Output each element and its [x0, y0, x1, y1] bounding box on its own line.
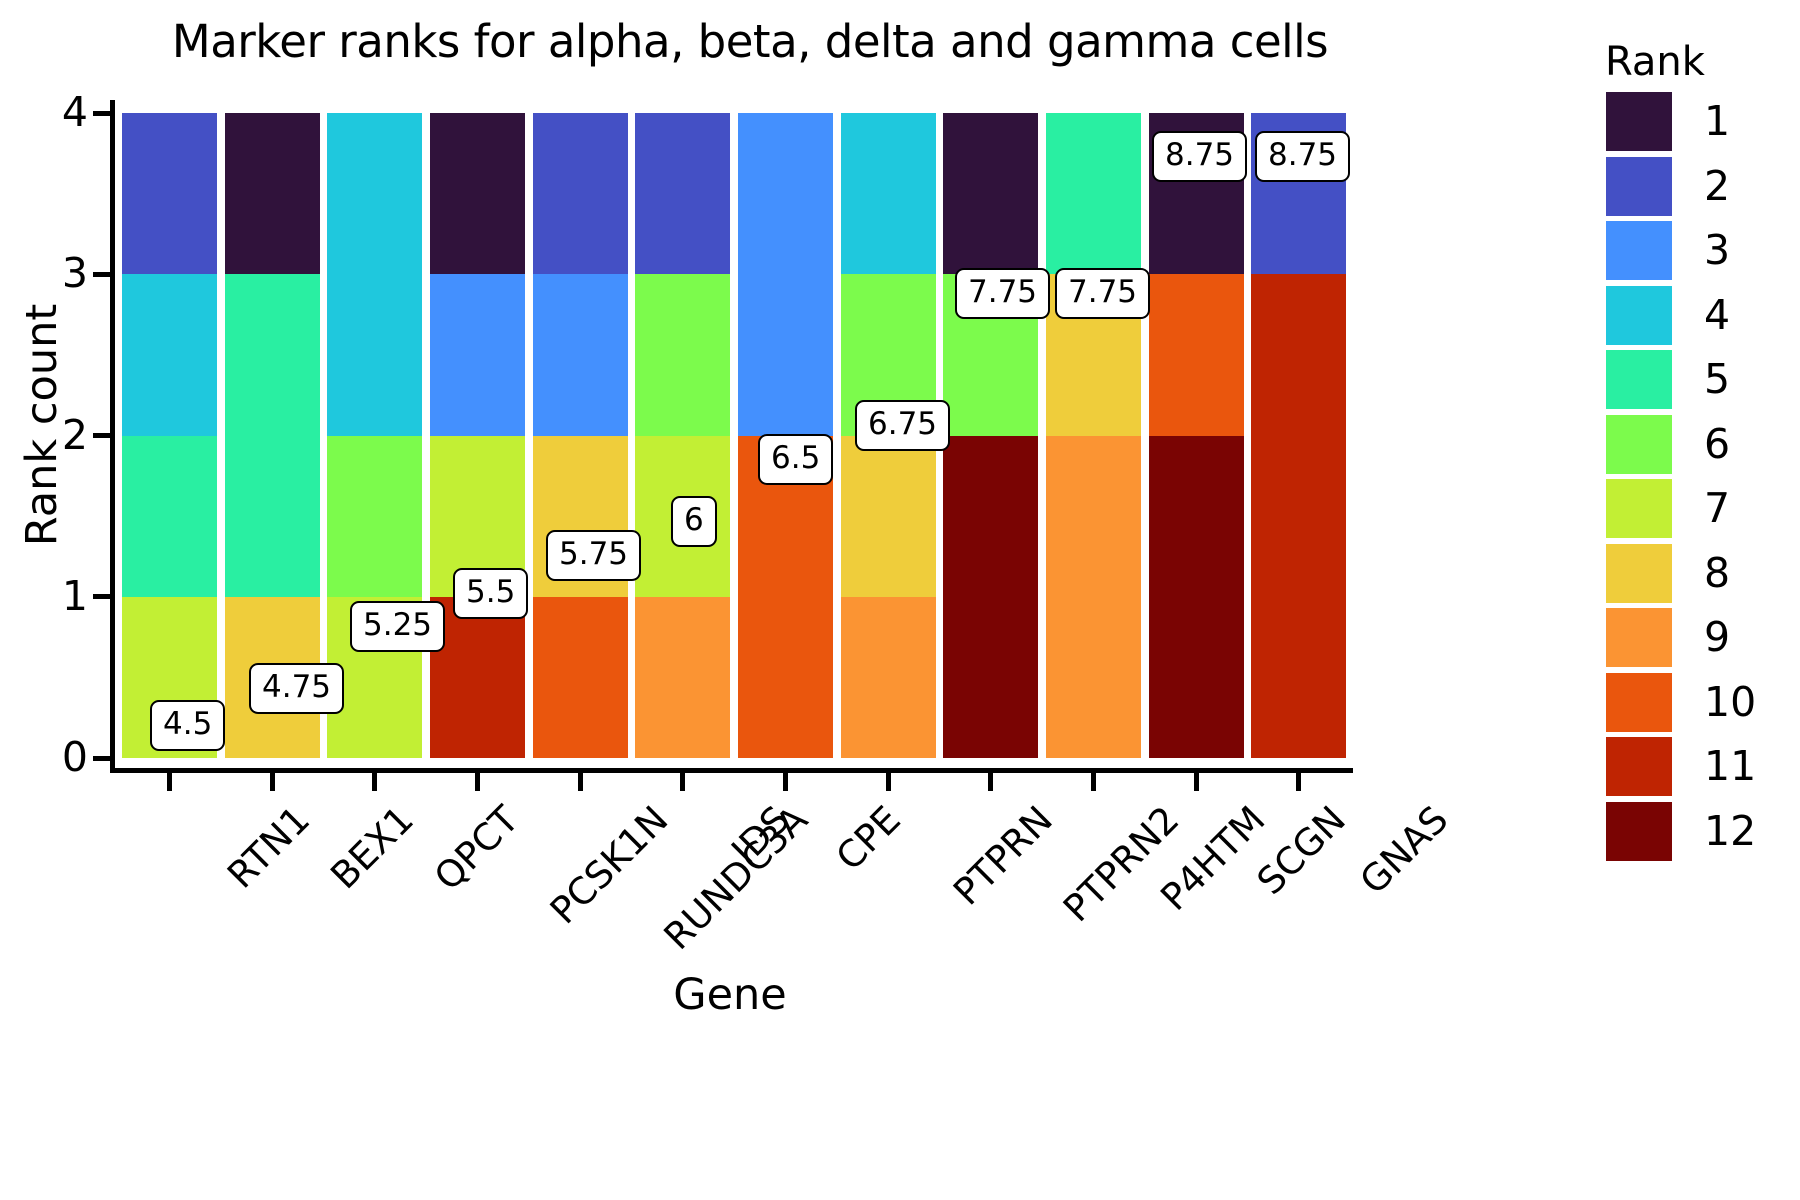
- bar-segment[interactable]: [943, 436, 1038, 759]
- x-tick-label: PTPRN2: [1057, 800, 1185, 928]
- bar-stack[interactable]: [635, 113, 730, 758]
- x-axis-title: Gene: [480, 970, 980, 1020]
- bar-segment[interactable]: [1149, 436, 1244, 759]
- bar-stack[interactable]: [122, 113, 217, 758]
- x-tick-label: QPCT: [428, 800, 525, 897]
- x-tick-mark: [270, 772, 275, 791]
- x-tick-label: PCSK1N: [544, 800, 674, 930]
- bar-segment[interactable]: [533, 597, 628, 758]
- legend-item-label: 1: [1704, 101, 1730, 142]
- bar-stack[interactable]: [943, 113, 1038, 758]
- y-tick-label: 4: [18, 92, 88, 133]
- bar-segment[interactable]: [635, 113, 730, 274]
- bar-value-label: 7.75: [955, 268, 1050, 319]
- bar-value-label: 6: [671, 496, 717, 547]
- bar-stack[interactable]: [533, 113, 628, 758]
- legend-item[interactable]: 11: [1600, 737, 1800, 800]
- x-tick-label: PTPRN: [947, 800, 1058, 911]
- x-tick-label: RTN1: [222, 800, 317, 895]
- bar-segment[interactable]: [1251, 274, 1346, 758]
- legend-color-swatch: [1606, 673, 1672, 732]
- bar-segment[interactable]: [327, 436, 422, 597]
- x-tick-label: BEX1: [325, 800, 420, 895]
- bar-segment[interactable]: [841, 597, 936, 758]
- chart-title: Marker ranks for alpha, beta, delta and …: [100, 14, 1400, 70]
- bar-value-label: 8.75: [1152, 131, 1247, 182]
- bar-value-label: 5.5: [453, 568, 528, 619]
- legend-title: Rank: [1605, 42, 1705, 82]
- legend-color-swatch: [1606, 157, 1672, 216]
- x-tick-mark: [167, 772, 172, 791]
- legend-item-label: 9: [1704, 617, 1730, 658]
- bar-segment[interactable]: [122, 274, 217, 435]
- bar-stack[interactable]: [1046, 113, 1141, 758]
- legend-color-swatch: [1606, 608, 1672, 667]
- bar-segment[interactable]: [1149, 274, 1244, 435]
- legend-color-swatch: [1606, 737, 1672, 796]
- bar-segment[interactable]: [122, 436, 217, 597]
- bar-segment[interactable]: [635, 597, 730, 758]
- bar-segment[interactable]: [225, 113, 320, 274]
- legend-item-label: 5: [1704, 359, 1730, 400]
- legend-item[interactable]: 5: [1600, 350, 1800, 413]
- legend-item-label: 2: [1704, 166, 1730, 207]
- legend-item-label: 6: [1704, 424, 1730, 465]
- bar-segment[interactable]: [430, 274, 525, 435]
- x-tick-mark: [1194, 772, 1199, 791]
- legend-item[interactable]: 7: [1600, 479, 1800, 542]
- legend-color-swatch: [1606, 544, 1672, 603]
- legend-color-swatch: [1606, 415, 1672, 474]
- x-tick-mark: [886, 772, 891, 791]
- bar-segment[interactable]: [122, 113, 217, 274]
- y-tick-label: 1: [18, 576, 88, 617]
- bar-value-label: 5.25: [350, 601, 445, 652]
- x-tick-mark: [783, 772, 788, 791]
- bar-segment[interactable]: [943, 113, 1038, 274]
- y-tick-mark: [93, 433, 112, 438]
- bar-segment[interactable]: [533, 274, 628, 435]
- x-tick-label: SCGN: [1251, 800, 1352, 901]
- x-tick-mark: [1296, 772, 1301, 791]
- legend-color-swatch: [1606, 286, 1672, 345]
- bar-segment[interactable]: [635, 274, 730, 435]
- legend-item[interactable]: 2: [1600, 157, 1800, 220]
- bar-stack[interactable]: [327, 113, 422, 758]
- y-tick-mark: [93, 594, 112, 599]
- legend-color-swatch: [1606, 350, 1672, 409]
- legend-item-label: 12: [1704, 811, 1756, 852]
- y-tick-mark: [93, 756, 112, 761]
- bar-value-label: 5.75: [546, 530, 641, 581]
- x-tick-mark: [680, 772, 685, 791]
- bar-value-label: 6.5: [758, 434, 833, 485]
- x-tick-mark: [578, 772, 583, 791]
- x-tick-mark: [1091, 772, 1096, 791]
- bar-value-label: 4.75: [249, 663, 344, 714]
- legend-color-swatch: [1606, 802, 1672, 861]
- bar-segment[interactable]: [1046, 436, 1141, 759]
- legend-item[interactable]: 8: [1600, 544, 1800, 607]
- bar-value-label: 6.75: [855, 400, 950, 451]
- bar-segment[interactable]: [533, 113, 628, 274]
- bar-stack[interactable]: [1251, 113, 1346, 758]
- bar-value-label: 7.75: [1055, 268, 1150, 319]
- legend-item-label: 11: [1704, 746, 1756, 787]
- x-tick-mark: [475, 772, 480, 791]
- bar-segment[interactable]: [225, 274, 320, 597]
- x-tick-mark: [988, 772, 993, 791]
- bar-stack[interactable]: [430, 113, 525, 758]
- bar-stack[interactable]: [1149, 113, 1244, 758]
- legend-item[interactable]: 4: [1600, 286, 1800, 349]
- bar-segment[interactable]: [1046, 113, 1141, 274]
- bar-segment[interactable]: [430, 113, 525, 274]
- bar-segment[interactable]: [327, 113, 422, 436]
- legend-item-label: 4: [1704, 295, 1730, 336]
- bar-segment[interactable]: [841, 113, 936, 274]
- y-tick-label: 0: [18, 737, 88, 778]
- y-tick-mark: [93, 272, 112, 277]
- legend-item[interactable]: 9: [1600, 608, 1800, 671]
- bar-segment[interactable]: [738, 113, 833, 436]
- legend-item[interactable]: 1: [1600, 92, 1800, 155]
- bar-stack[interactable]: [225, 113, 320, 758]
- legend-item-label: 8: [1704, 553, 1730, 594]
- x-axis-spine: [110, 768, 1353, 773]
- legend-color-swatch: [1606, 221, 1672, 280]
- legend-item[interactable]: 3: [1600, 221, 1800, 284]
- legend-item-label: 10: [1704, 682, 1756, 723]
- legend-color-swatch: [1606, 92, 1672, 151]
- bar-value-label: 4.5: [150, 700, 225, 751]
- y-tick-label: 2: [18, 415, 88, 456]
- legend-item[interactable]: 6: [1600, 415, 1800, 478]
- y-tick-mark: [93, 111, 112, 116]
- legend-item-label: 3: [1704, 230, 1730, 271]
- legend-color-swatch: [1606, 479, 1672, 538]
- bar-segment[interactable]: [841, 436, 936, 597]
- legend-item-label: 7: [1704, 488, 1730, 529]
- plot-area: [118, 113, 1350, 758]
- y-tick-label: 3: [18, 253, 88, 294]
- x-tick-label: CPE: [830, 800, 907, 877]
- bar-value-label: 8.75: [1255, 131, 1350, 182]
- legend-item[interactable]: 12: [1600, 802, 1800, 865]
- chart-figure: Marker ranks for alpha, beta, delta and …: [0, 0, 1800, 1200]
- x-tick-label: GNAS: [1353, 800, 1454, 901]
- x-tick-mark: [372, 772, 377, 791]
- legend-item[interactable]: 10: [1600, 673, 1800, 736]
